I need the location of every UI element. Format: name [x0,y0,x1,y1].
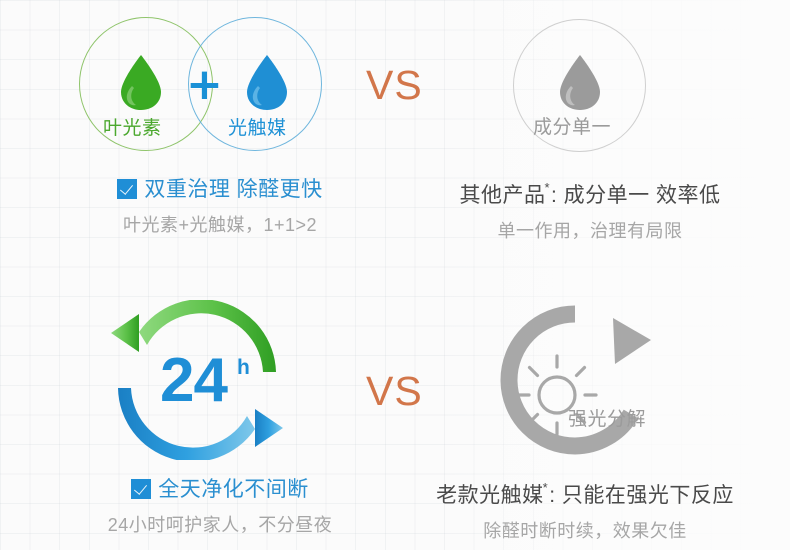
plus-operator-icon: + [186,70,220,104]
headline-right-row1-prefix: 其他产品 [459,184,545,207]
headline-right-row2-star: * [543,480,549,495]
headline-right-row2-suffix: : 只能在强光下反应 [549,484,734,507]
droplet-green-icon [117,52,165,112]
caption-left-row1: 双重治理 除醛更快 叶光素+光触媒，1+1>2 [60,176,380,240]
vs-marker-bottom: VS [366,368,423,415]
cycle-center-number: 24 [160,350,227,412]
headline-right-row1: 其他产品*: 成分单一 效率低 [420,176,760,210]
caption-right-row2: 老款光触媒*: 只能在强光下反应 除醛时断时续，效果欠佳 [410,476,760,546]
caption-right-row1: 其他产品*: 成分单一 效率低 单一作用，治理有局限 [420,176,760,246]
subline-left-row1: 叶光素+光触媒，1+1>2 [60,210,380,240]
check-badge-icon [131,479,151,499]
caption-left-row2: 全天净化不间断 24小时呵护家人，不分昼夜 [55,476,385,540]
venn-label-right: 光触媒 [228,113,287,140]
subline-left-row2: 24小时呵护家人，不分昼夜 [55,510,385,540]
headline-right-row1-star: * [544,180,550,195]
headline-left-row2-text: 全天净化不间断 [158,478,309,501]
droplet-gray-icon [556,52,604,112]
headline-left-row1: 双重治理 除醛更快 [60,176,380,204]
headline-right-row1-suffix: : 成分单一 效率低 [551,184,721,207]
subline-right-row2: 除醛时断时续，效果欠佳 [410,516,760,546]
gray-cycle-label: 强光分解 [568,404,646,431]
droplet-blue-icon [243,52,291,112]
headline-right-row2: 老款光触媒*: 只能在强光下反应 [410,476,760,510]
headline-left-row2: 全天净化不间断 [55,476,385,504]
vs-marker-top: VS [366,62,423,109]
gray-circle-label: 成分单一 [533,112,611,139]
cycle-center-unit: h [237,356,250,380]
venn-label-left: 叶光素 [103,113,162,140]
headline-left-row1-text: 双重治理 除醛更快 [144,178,322,201]
check-badge-icon [117,179,137,199]
subline-right-row1: 单一作用，治理有局限 [420,216,760,246]
infographic-canvas: + 叶光素 光触媒 VS 成分单一 双重治理 除醛更快 叶光素+光触媒，1+1>… [0,0,790,550]
headline-right-row2-prefix: 老款光触媒 [436,484,544,507]
